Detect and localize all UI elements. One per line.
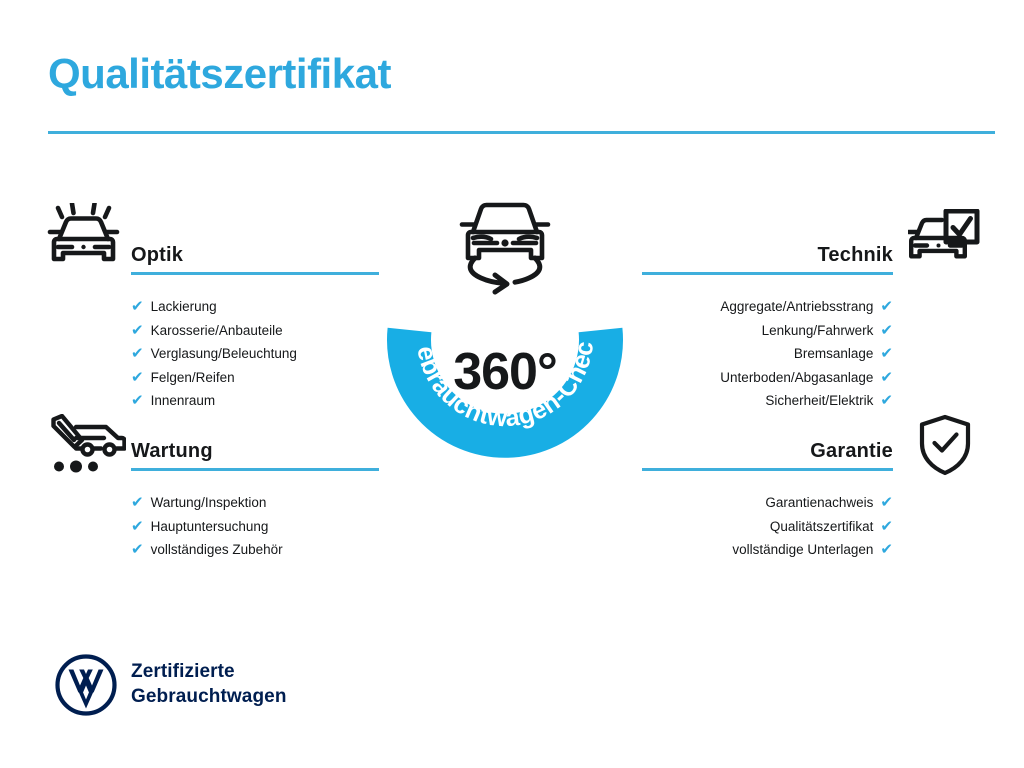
list-item: ✔Wartung/Inspektion (131, 491, 379, 515)
section-header: Wartung (131, 437, 379, 477)
check-icon: ✔ (131, 346, 144, 361)
vw-wordmark: Zertifizierte Gebrauchtwagen (131, 659, 287, 709)
list-item: Aggregate/Antriebsstrang✔ (642, 295, 893, 319)
check-icon: ✔ (880, 323, 893, 338)
section-divider (642, 468, 893, 471)
checklist-technik: Aggregate/Antriebsstrang✔ Lenkung/Fahrwe… (642, 295, 893, 413)
list-item-label: vollständiges Zubehör (151, 538, 283, 562)
vw-logo (55, 654, 117, 721)
list-item-label: Qualitätszertifikat (770, 515, 874, 539)
vw-wordmark-line1: Zertifizierte (131, 659, 287, 684)
certificate-page: Qualitätszertifikat (0, 0, 1024, 768)
section-divider (131, 272, 379, 275)
checklist-garantie: Garantienachweis✔ Qualitätszertifikat✔ v… (642, 491, 893, 562)
list-item: Garantienachweis✔ (642, 491, 893, 515)
list-item-label: Hauptuntersuchung (151, 515, 269, 539)
header-divider (48, 131, 995, 134)
list-item: Qualitätszertifikat✔ (642, 515, 893, 539)
check-icon: ✔ (131, 393, 144, 408)
list-item-label: vollständige Unterlagen (732, 538, 873, 562)
check-icon: ✔ (131, 542, 144, 557)
list-item: ✔Innenraum (131, 389, 379, 413)
list-item: ✔Hauptuntersuchung (131, 515, 379, 539)
section-title-garantie: Garantie (642, 437, 893, 465)
section-title-optik: Optik (131, 241, 379, 269)
check-icon: ✔ (880, 393, 893, 408)
section-header: Garantie (642, 437, 893, 477)
car-checkbox-icon (908, 209, 980, 276)
list-item: Unterboden/Abgasanlage✔ (642, 366, 893, 390)
section-title-wartung: Wartung (131, 437, 379, 465)
car-shine-icon (46, 203, 122, 278)
list-item: ✔Verglasung/Beleuchtung (131, 342, 379, 366)
list-item: Sicherheit/Elektrik✔ (642, 389, 893, 413)
section-divider (131, 468, 379, 471)
list-item: ✔vollständiges Zubehör (131, 538, 379, 562)
check-icon: ✔ (880, 370, 893, 385)
check-icon: ✔ (131, 370, 144, 385)
wrench-car-icon (46, 414, 126, 481)
check-icon: ✔ (880, 346, 893, 361)
checklist-optik: ✔Lackierung ✔Karosserie/Anbauteile ✔Verg… (131, 295, 379, 413)
list-item-label: Bremsanlage (794, 342, 874, 366)
section-header: Optik (131, 241, 379, 281)
list-item-label: Innenraum (151, 389, 216, 413)
list-item-label: Verglasung/Beleuchtung (151, 342, 297, 366)
list-item-label: Unterboden/Abgasanlage (720, 366, 873, 390)
check-icon: ✔ (131, 299, 144, 314)
check-icon: ✔ (131, 495, 144, 510)
list-item-label: Aggregate/Antriebsstrang (720, 295, 873, 319)
list-item: Bremsanlage✔ (642, 342, 893, 366)
check-icon: ✔ (131, 519, 144, 534)
section-wartung: Wartung ✔Wartung/Inspektion ✔Hauptunters… (131, 437, 379, 562)
list-item-label: Sicherheit/Elektrik (765, 389, 873, 413)
list-item-label: Karosserie/Anbauteile (151, 319, 283, 343)
section-title-technik: Technik (642, 241, 893, 269)
list-item-label: Garantienachweis (765, 491, 873, 515)
list-item: Lenkung/Fahrwerk✔ (642, 319, 893, 343)
360-check-badge: Gebrauchtwagen-Check 360° (379, 196, 645, 486)
list-item: ✔Karosserie/Anbauteile (131, 319, 379, 343)
page-title: Qualitätszertifikat (48, 52, 391, 96)
list-item: ✔Lackierung (131, 295, 379, 319)
list-item: vollständige Unterlagen✔ (642, 538, 893, 562)
section-optik: Optik ✔Lackierung ✔Karosserie/Anbauteile… (131, 241, 379, 413)
shield-check-icon (917, 414, 973, 481)
check-icon: ✔ (131, 323, 144, 338)
list-item-label: Lackierung (151, 295, 217, 319)
check-icon: ✔ (880, 519, 893, 534)
vw-wordmark-line2: Gebrauchtwagen (131, 684, 287, 709)
badge-center-value: 360° (379, 342, 631, 402)
section-garantie: Garantie Garantienachweis✔ Qualitätszert… (642, 437, 893, 562)
check-icon: ✔ (880, 542, 893, 557)
check-icon: ✔ (880, 495, 893, 510)
section-divider (642, 272, 893, 275)
list-item: ✔Felgen/Reifen (131, 366, 379, 390)
list-item-label: Felgen/Reifen (151, 366, 235, 390)
list-item-label: Wartung/Inspektion (151, 491, 267, 515)
section-technik: Technik Aggregate/Antriebsstrang✔ Lenkun… (642, 241, 893, 413)
check-icon: ✔ (880, 299, 893, 314)
list-item-label: Lenkung/Fahrwerk (762, 319, 874, 343)
checklist-wartung: ✔Wartung/Inspektion ✔Hauptuntersuchung ✔… (131, 491, 379, 562)
section-header: Technik (642, 241, 893, 281)
